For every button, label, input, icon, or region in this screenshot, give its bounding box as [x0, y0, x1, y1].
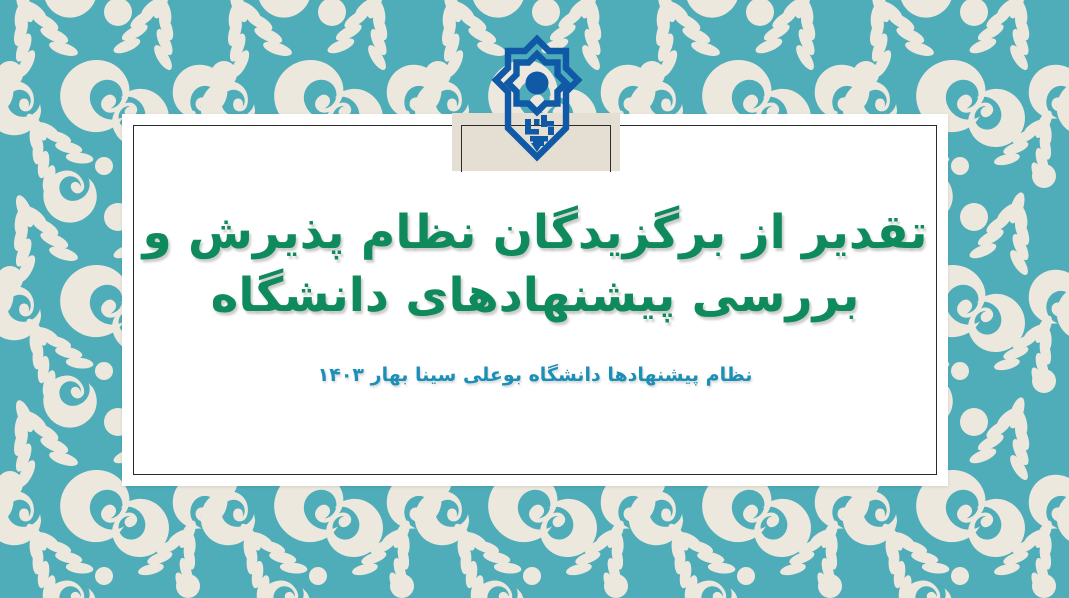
university-logo-icon [489, 33, 585, 166]
presentation-slide: تقدیر از برگزیدگان نظام پذیرش و بررسی پی… [0, 0, 1069, 598]
card-inner-border [133, 125, 937, 475]
